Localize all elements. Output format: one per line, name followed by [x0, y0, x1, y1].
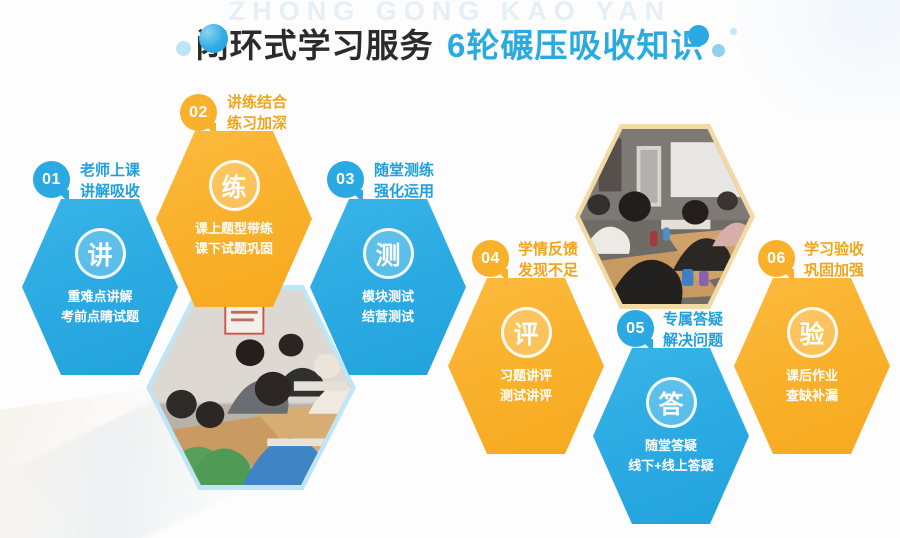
- step-badge-04[interactable]: 04: [472, 240, 509, 277]
- step-badge-04-number: 04: [481, 250, 500, 268]
- step-detail-01-line1: 重难点讲解: [67, 287, 132, 307]
- step-detail-04-line1: 习题讲评: [500, 366, 552, 386]
- step-detail-02-line1: 课上题型带练: [195, 219, 273, 239]
- step-badge-01[interactable]: 01: [33, 161, 70, 198]
- step-glyph-03: 测: [375, 236, 400, 272]
- step-caption-01-line1: 老师上课: [80, 160, 140, 181]
- decor-dot-right-large: [688, 25, 709, 46]
- step-caption-03: 随堂测练 强化运用: [374, 160, 434, 203]
- step-detail-04-line2: 测试讲评: [500, 386, 552, 406]
- step-detail-05: 随堂答疑 线下+线上答疑: [628, 436, 714, 476]
- page-title: 闭环式学习服务 6轮碾压吸收知识: [0, 19, 900, 67]
- step-detail-05-line1: 随堂答疑: [645, 436, 697, 456]
- step-caption-01: 老师上课 讲解吸收: [80, 160, 140, 203]
- step-hex-01[interactable]: 讲 重难点讲解 考前点睛试题: [22, 199, 178, 375]
- step-badge-03[interactable]: 03: [327, 161, 364, 198]
- decor-dot-right-small: [730, 28, 737, 35]
- step-caption-06-line1: 学习验收: [804, 239, 864, 260]
- decor-dot-left-large: [199, 24, 228, 53]
- step-detail-04: 习题讲评 测试讲评: [500, 366, 552, 406]
- step-detail-03-line1: 模块测试: [362, 287, 414, 307]
- step-caption-04-line1: 学情反馈: [518, 239, 578, 260]
- infographic-canvas: ZHONG GONG KAO YAN 闭环式学习服务 6轮碾压吸收知识: [0, 0, 900, 538]
- step-caption-05: 专属答疑 解决问题: [663, 309, 723, 352]
- step-badge-06[interactable]: 06: [758, 240, 795, 277]
- study-room-photo-art: [151, 290, 351, 485]
- step-caption-02: 讲练结合 练习加深: [227, 92, 287, 135]
- step-badge-05[interactable]: 05: [617, 310, 654, 347]
- step-glyph-01: 讲: [87, 236, 112, 272]
- step-badge-06-number: 06: [767, 250, 786, 268]
- title-main-text: 闭环式学习服务: [196, 27, 434, 64]
- step-detail-06-line2: 查缺补漏: [786, 386, 838, 406]
- step-hex-04[interactable]: 评 习题讲评 测试讲评: [448, 278, 604, 454]
- step-hex-02[interactable]: 练 课上题型带练 课下试题巩固: [156, 131, 312, 307]
- decor-dot-right-medium: [712, 44, 725, 57]
- step-glyph-02: 练: [221, 168, 246, 204]
- step-glyph-06: 验: [799, 315, 824, 351]
- step-hex-06[interactable]: 验 课后作业 查缺补漏: [734, 278, 890, 454]
- step-glyph-circle-02: 练: [209, 160, 260, 211]
- step-caption-05-line1: 专属答疑: [663, 309, 723, 330]
- step-detail-02: 课上题型带练 课下试题巩固: [195, 219, 273, 259]
- classroom-lecture-photo-art: [580, 129, 750, 304]
- step-badge-02[interactable]: 02: [180, 94, 217, 131]
- step-detail-03-line2: 结营测试: [362, 307, 414, 327]
- step-glyph-circle-05: 答: [646, 377, 697, 428]
- step-badge-02-number: 02: [189, 104, 208, 122]
- step-badge-03-number: 03: [336, 171, 355, 189]
- step-glyph-05: 答: [658, 385, 683, 421]
- step-detail-06-line1: 课后作业: [786, 366, 838, 386]
- step-detail-03: 模块测试 结营测试: [362, 287, 414, 327]
- step-glyph-circle-01: 讲: [75, 228, 126, 279]
- step-caption-06: 学习验收 巩固加强: [804, 239, 864, 282]
- step-badge-01-number: 01: [42, 171, 61, 189]
- step-detail-06: 课后作业 查缺补漏: [786, 366, 838, 406]
- classroom-lecture-photo: [575, 124, 755, 309]
- title-accent-text: 6轮碾压吸收知识: [447, 27, 704, 64]
- step-glyph-04: 评: [513, 315, 538, 351]
- step-glyph-circle-04: 评: [501, 307, 552, 358]
- step-hex-05[interactable]: 答 随堂答疑 线下+线上答疑: [593, 348, 749, 524]
- step-detail-02-line2: 课下试题巩固: [195, 239, 273, 259]
- step-caption-02-line1: 讲练结合: [227, 92, 287, 113]
- step-detail-01: 重难点讲解 考前点睛试题: [61, 287, 139, 327]
- step-detail-01-line2: 考前点睛试题: [61, 307, 139, 327]
- step-caption-04: 学情反馈 发现不足: [518, 239, 578, 282]
- step-detail-05-line2: 线下+线上答疑: [628, 456, 714, 476]
- step-glyph-circle-06: 验: [787, 307, 838, 358]
- step-caption-03-line1: 随堂测练: [374, 160, 434, 181]
- decor-dot-left-small: [176, 41, 191, 56]
- step-glyph-circle-03: 测: [363, 228, 414, 279]
- step-badge-05-number: 05: [626, 320, 645, 338]
